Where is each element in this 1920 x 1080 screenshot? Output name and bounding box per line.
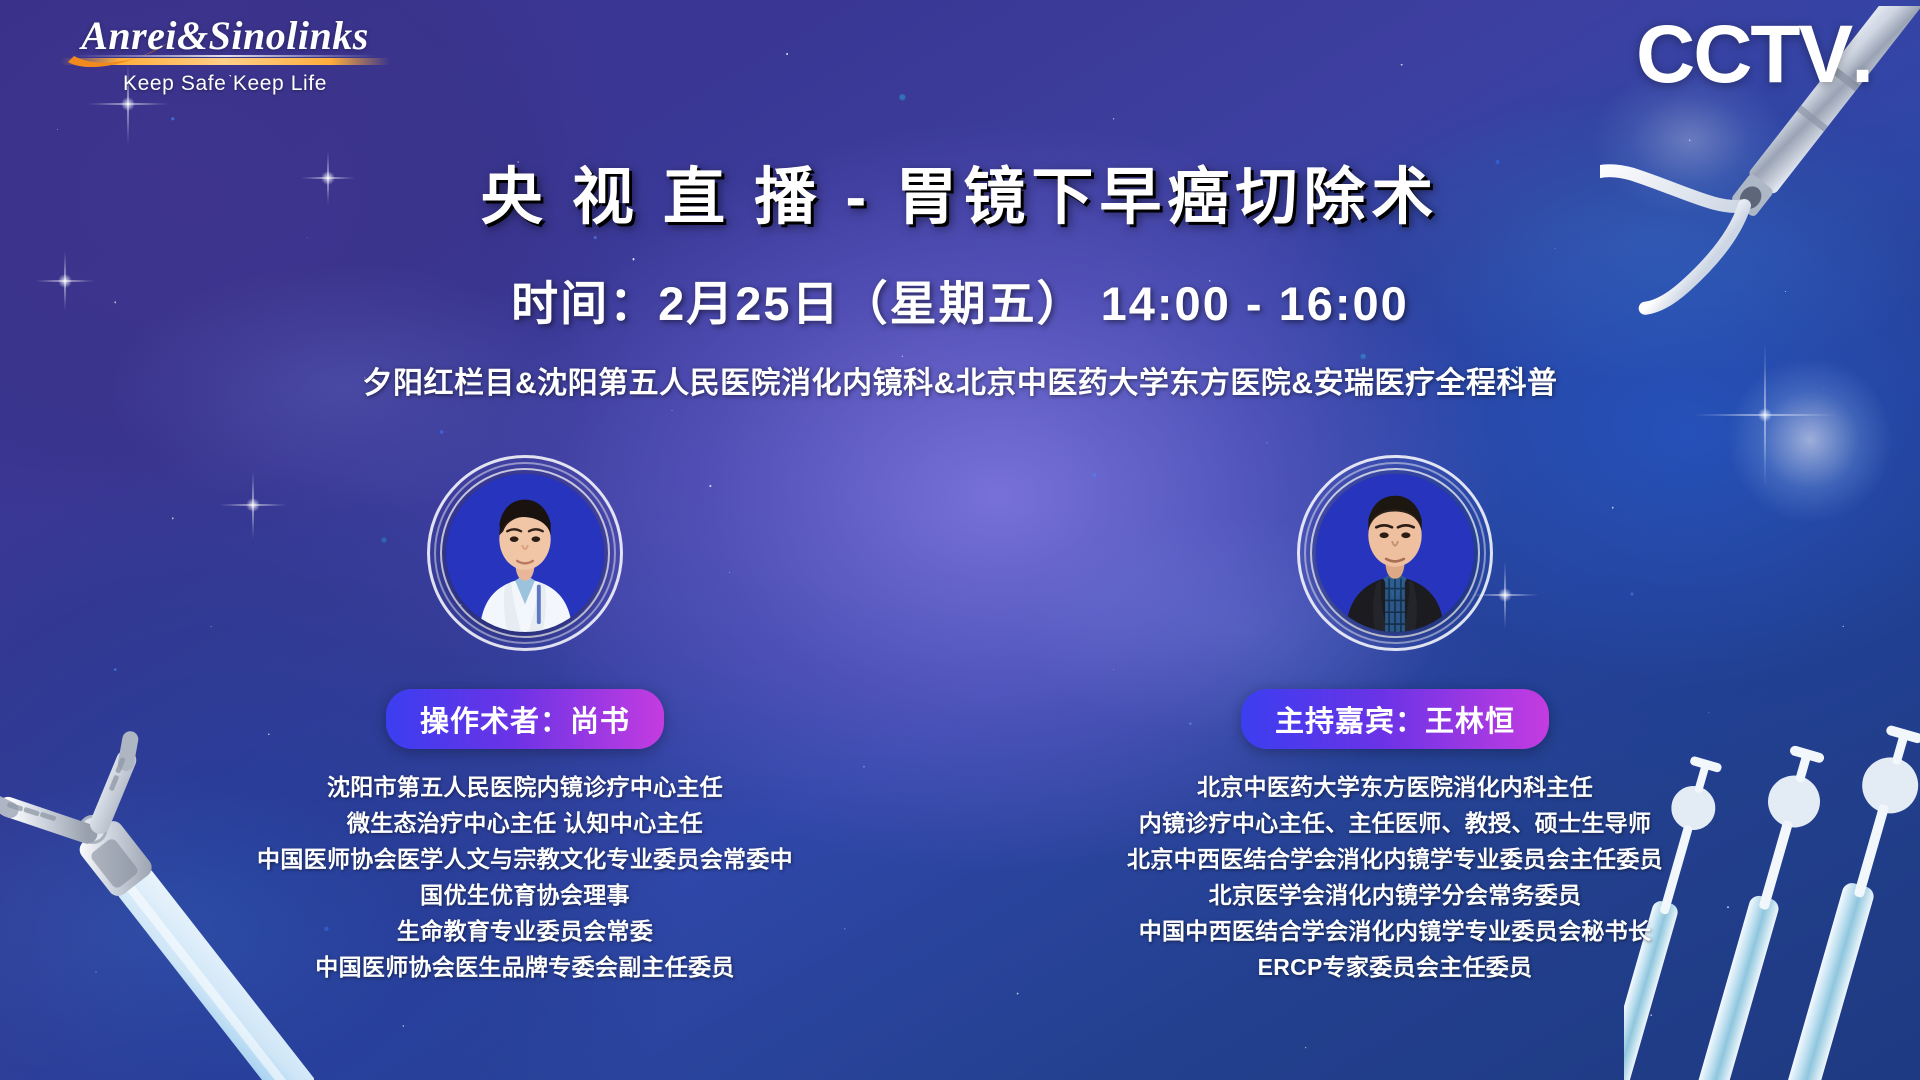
bio-line: 中国中西医结合学会消化内镜学专业委员会秘书长 — [1127, 913, 1663, 949]
presenter-operator: 操作术者：尚书 沈阳市第五人民医院内镜诊疗中心主任 微生态治疗中心主任 认知中心… — [205, 455, 845, 985]
bio-line: 北京医学会消化内镜学分会常务委员 — [1127, 877, 1663, 913]
bio-line: 北京中西医结合学会消化内镜学专业委员会主任委员 — [1127, 841, 1663, 877]
presenter-host: 主持嘉宾：王林恒 北京中医药大学东方医院消化内科主任 内镜诊疗中心主任、主任医师… — [1075, 455, 1715, 985]
presenters-row: 操作术者：尚书 沈阳市第五人民医院内镜诊疗中心主任 微生态治疗中心主任 认知中心… — [0, 455, 1920, 985]
role-badge-host: 主持嘉宾：王林恒 — [1241, 689, 1549, 749]
bio-line: 中国医师协会医生品牌专委会副主任委员 — [257, 949, 793, 985]
bio-line: 生命教育专业委员会常委 — [257, 913, 793, 949]
bio-line: 北京中医药大学东方医院消化内科主任 — [1127, 769, 1663, 805]
brand-name: Anrei&Sinolinks — [60, 16, 390, 56]
role-badge-operator: 操作术者：尚书 — [386, 689, 664, 749]
bio-line: 国优生优育协会理事 — [257, 877, 793, 913]
brand-logo: Anrei&Sinolinks Keep Safe Keep Life — [60, 16, 390, 96]
bio-line: 内镜诊疗中心主任、主任医师、教授、硕士生导师 — [1127, 805, 1663, 841]
bio-line: ERCP专家委员会主任委员 — [1127, 949, 1663, 985]
cctv-logo-text: CCTV — [1636, 9, 1851, 100]
event-time: 时间：2月25日（星期五） 14:00 - 16:00 — [0, 265, 1920, 334]
poster-canvas: Anrei&Sinolinks Keep Safe Keep Life CCTV… — [0, 0, 1920, 1080]
bio-line: 微生态治疗中心主任 认知中心主任 — [257, 805, 793, 841]
cctv-logo: CCTV. — [1636, 14, 1874, 96]
avatar — [427, 455, 623, 651]
bio-line: 沈阳市第五人民医院内镜诊疗中心主任 — [257, 769, 793, 805]
bio-host: 北京中医药大学东方医院消化内科主任 内镜诊疗中心主任、主任医师、教授、硕士生导师… — [1127, 769, 1663, 985]
organizers-line: 夕阳红栏目&沈阳第五人民医院消化内镜科&北京中医药大学东方医院&安瑞医疗全程科普 — [0, 358, 1920, 402]
brand-tagline: Keep Safe Keep Life — [60, 72, 390, 96]
cctv-logo-dot: . — [1851, 9, 1874, 100]
host-portrait-icon — [1316, 474, 1474, 632]
page-title: 央 视 直 播 - 胃镜下早癌切除术 — [0, 146, 1920, 236]
avatar — [1297, 455, 1493, 651]
bio-operator: 沈阳市第五人民医院内镜诊疗中心主任 微生态治疗中心主任 认知中心主任 中国医师协… — [257, 769, 793, 985]
bio-line: 中国医师协会医学人文与宗教文化专业委员会常委中 — [257, 841, 793, 877]
doctor-portrait-icon — [446, 474, 604, 632]
